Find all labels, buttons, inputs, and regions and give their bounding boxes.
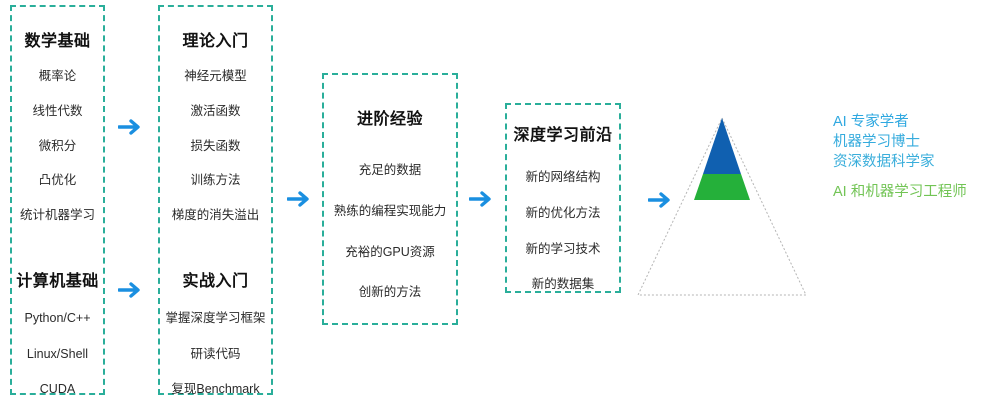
role-labels: AI 专家学者 机器学习博士 资深数据科学家 AI 和机器学习工程师	[833, 112, 989, 202]
item-advanced-3: 创新的方法	[359, 286, 422, 300]
group-title-advanced: 进阶经验	[357, 105, 423, 129]
group-advanced: 进阶经验 充足的数据 熟练的编程实现能力 充裕的GPU资源 创新的方法	[324, 105, 456, 300]
item-cs-1: Linux/Shell	[27, 348, 88, 362]
item-practice-0: 掌握深度学习框架	[165, 312, 265, 326]
arrow-foundations-to-theory	[118, 117, 144, 137]
stage-advanced: 进阶经验 充足的数据 熟练的编程实现能力 充裕的GPU资源 创新的方法	[322, 73, 458, 325]
stage-frontier: 深度学习前沿 新的网络结构 新的优化方法 新的学习技术 新的数据集	[505, 103, 621, 293]
role-engineer: AI 和机器学习工程师	[833, 182, 989, 202]
item-practice-2: 复现Benchmark	[171, 383, 259, 397]
item-theory-1: 激活函数	[190, 105, 240, 119]
role-senior-0: AI 专家学者	[833, 112, 989, 132]
role-senior-2: 资深数据科学家	[833, 152, 989, 172]
role-senior-1: 机器学习博士	[833, 132, 989, 152]
group-frontier: 深度学习前沿 新的网络结构 新的优化方法 新的学习技术 新的数据集	[507, 121, 619, 292]
item-math-0: 概率论	[39, 70, 77, 84]
arrow-entry-to-advanced	[287, 189, 313, 209]
item-frontier-0: 新的网络结构	[525, 171, 600, 185]
item-theory-4: 梯度的消失溢出	[172, 209, 260, 223]
group-math-foundations: 数学基础 概率论 线性代数 微积分 凸优化 统计机器学习	[12, 27, 103, 223]
item-math-2: 微积分	[39, 140, 77, 154]
item-math-4: 统计机器学习	[20, 209, 95, 223]
item-theory-2: 损失函数	[190, 140, 240, 154]
item-advanced-1: 熟练的编程实现能力	[334, 205, 447, 219]
group-title-frontier: 深度学习前沿	[513, 121, 612, 145]
stage-entry: 理论入门 神经元模型 激活函数 损失函数 训练方法 梯度的消失溢出 实战入门 掌…	[158, 5, 273, 395]
item-advanced-2: 充裕的GPU资源	[345, 246, 435, 260]
arrow-advanced-to-frontier	[469, 189, 495, 209]
item-math-3: 凸优化	[39, 174, 77, 188]
item-cs-2: CUDA	[40, 383, 75, 397]
group-title-theory: 理论入门	[182, 27, 248, 51]
item-frontier-2: 新的学习技术	[525, 243, 600, 257]
item-cs-0: Python/C++	[24, 312, 90, 326]
item-frontier-3: 新的数据集	[532, 278, 595, 292]
pyramid-tier-middle	[694, 174, 750, 200]
item-theory-0: 神经元模型	[184, 70, 247, 84]
item-theory-3: 训练方法	[190, 174, 240, 188]
arrow-foundations-to-practice	[118, 280, 144, 300]
stage-foundations: 数学基础 概率论 线性代数 微积分 凸优化 统计机器学习 计算机基础 Pytho…	[10, 5, 105, 395]
group-practice-entry: 实战入门 掌握深度学习框架 研读代码 复现Benchmark 改进方法	[160, 267, 271, 400]
item-practice-1: 研读代码	[190, 348, 240, 362]
group-cs-foundations: 计算机基础 Python/C++ Linux/Shell CUDA 分布式计算	[12, 267, 103, 400]
group-title-cs: 计算机基础	[16, 267, 99, 291]
diagram-canvas: 数学基础 概率论 线性代数 微积分 凸优化 统计机器学习 计算机基础 Pytho…	[0, 0, 989, 400]
item-math-1: 线性代数	[32, 105, 82, 119]
item-frontier-1: 新的优化方法	[525, 207, 600, 221]
group-title-math: 数学基础	[24, 27, 90, 51]
item-advanced-0: 充足的数据	[359, 164, 422, 178]
group-theory-entry: 理论入门 神经元模型 激活函数 损失函数 训练方法 梯度的消失溢出	[160, 27, 271, 223]
group-title-practice: 实战入门	[182, 267, 248, 291]
career-pyramid	[630, 112, 810, 302]
